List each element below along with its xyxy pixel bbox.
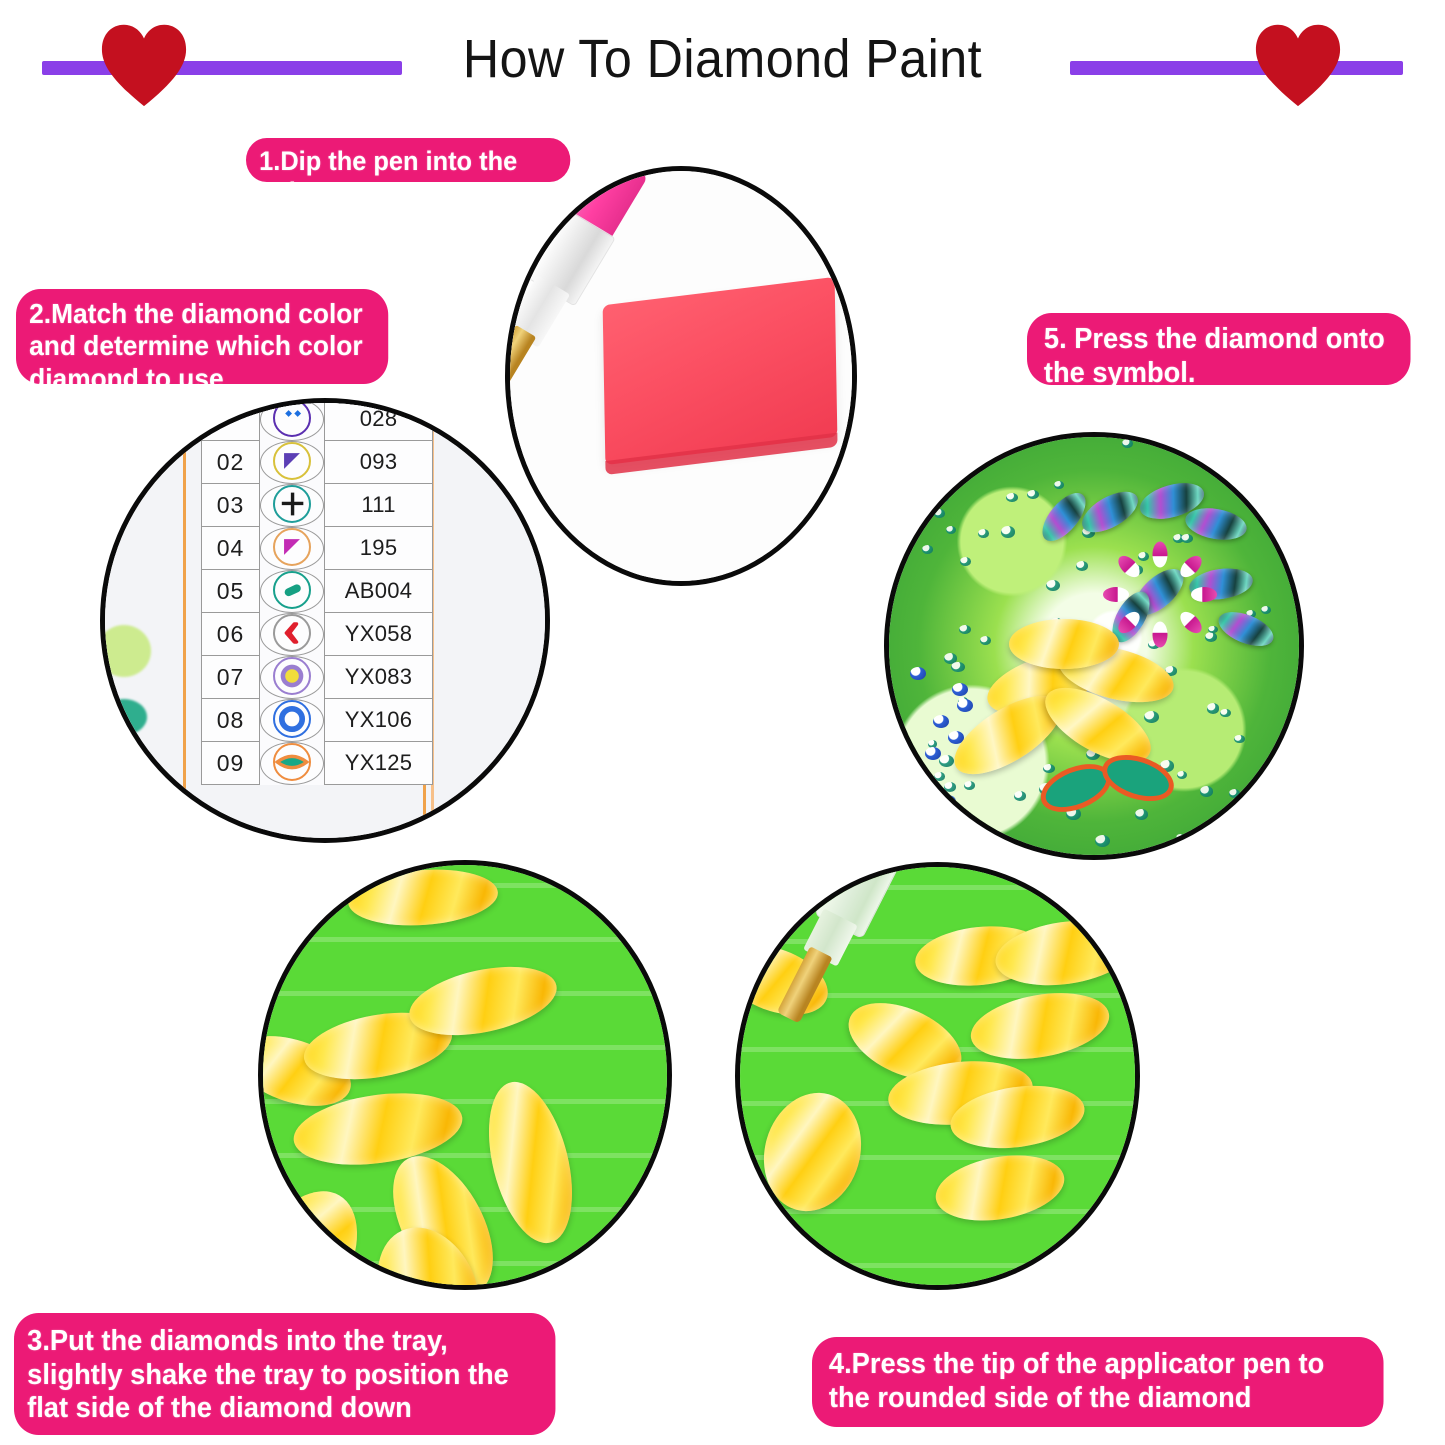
tray-ridge [263,937,667,942]
symbol-plus-icon [273,485,311,523]
symbol-double-diamond-icon [273,403,311,437]
drill-dot [946,465,957,474]
drill-dot [1205,632,1218,642]
header: How To Diamond Paint [0,0,1445,120]
chart-symbol-cell [260,527,324,570]
table-row: 05AB004 [202,570,433,613]
tray-ridge [740,1263,1135,1268]
pen-dipping-into-gel-photo [505,166,857,586]
drill-dot [1207,703,1220,713]
drill-dot [922,545,933,554]
chart-code-cell: AB004 [325,570,433,613]
color-chart-table: 02802093031110419505AB00406YX05807YX0830… [201,403,433,785]
drill-dot [1135,809,1148,820]
table-row: 07YX083 [202,656,433,699]
symbol-dot-ring-icon [273,657,311,695]
drill-dot [1220,709,1231,718]
drill-dot [939,755,954,767]
infographic-canvas: How To Diamond Paint 1.Dip the pen into … [0,0,1445,1445]
drill-dot [973,456,983,464]
drill-dot [1014,791,1027,801]
step-3-label: 3.Put the diamonds into the tray, slight… [14,1313,555,1435]
diamond-gem [1009,619,1119,669]
drill-dot [1181,534,1193,544]
chart-code-cell: YX058 [325,613,433,656]
drill-dot [1222,810,1234,819]
yellow-diamonds-in-green-tray-photo [258,860,672,1290]
chart-symbol-cell [260,613,324,656]
chart-symbol-cell [260,570,324,613]
chart-code-cell: YX083 [325,656,433,699]
drill-dot [1054,481,1064,489]
chart-code-cell: YX106 [325,699,433,742]
chart-number-cell: 08 [202,699,260,742]
table-row: 02093 [202,441,433,484]
drill-dot [951,662,964,673]
chart-number-cell: 04 [202,527,260,570]
step-2-label: 2.Match the diamond color and determine … [16,289,388,384]
chart-symbol-cell [260,742,324,785]
chart-symbol-cell [260,441,324,484]
drill-dot [978,529,989,538]
table-row: 04195 [202,527,433,570]
table-row: 06YX058 [202,613,433,656]
tray-ridge [740,885,1135,890]
gel-pad [603,277,838,465]
drill-dot [1144,711,1159,723]
drill-dot [921,779,937,792]
chart-number-cell: 03 [202,484,260,527]
diamond-gem [263,1172,380,1285]
chart-code-cell: 195 [325,527,433,570]
table-row: 08YX106 [202,699,433,742]
table-row: 028 [202,403,433,441]
chart-symbol-cell [260,484,324,527]
diamond-gem [346,865,499,930]
chart-number-cell: 09 [202,742,260,785]
chart-symbol-cell [260,656,324,699]
drill-dot [1138,552,1149,561]
drill-dot [1200,786,1213,796]
chart-number-cell: 07 [202,656,260,699]
pressing-diamond-onto-canvas-photo [884,432,1304,860]
pen-picking-up-diamond-photo [735,862,1140,1290]
drill-dot [1188,453,1197,461]
chart-symbol-cell [260,403,324,441]
drill-dot [1176,834,1185,841]
petal-gem [1103,587,1129,602]
table-row: 03111 [202,484,433,527]
chart-symbol-cell [260,699,324,742]
chart-number-cell [202,403,260,441]
drill-dot [933,715,949,728]
symbol-leaf-icon [273,743,311,781]
color-symbol-chart-photo: 02802093031110419505AB00406YX05807YX0830… [100,398,550,843]
drill-dot [959,625,971,634]
page-title: How To Diamond Paint [51,28,1395,90]
chart-number-cell: 06 [202,613,260,656]
drill-dot [934,509,945,517]
petal-gem [1153,542,1168,568]
symbol-chevron-left-icon [273,614,311,652]
drill-dot [1076,561,1088,571]
step-5-label: 5. Press the diamond onto the symbol. [1027,313,1411,385]
symbol-triangle-fill-icon [273,528,311,566]
drill-dot [920,510,932,520]
symbol-capsule-icon [273,571,311,609]
petal-gem [1191,587,1217,602]
drill-dot [1027,490,1039,499]
chart-code-cell: YX125 [325,742,433,785]
chart-code-cell: 028 [325,403,433,441]
drill-dot [1001,526,1015,537]
petal-gem [1153,622,1168,648]
drill-dot [940,795,956,808]
diamond-gem [991,913,1135,994]
drill-dot [934,772,945,781]
drill-dot [1208,626,1217,633]
drill-dot [1224,830,1238,841]
drill-dot [944,782,957,792]
chart-number-cell: 05 [202,570,260,613]
chart-number-cell: 02 [202,441,260,484]
symbol-ring-icon [273,700,311,738]
symbol-triangle-fill-icon [273,442,311,480]
step-4-label: 4.Press the tip of the applicator pen to… [812,1337,1384,1427]
chart-code-cell: 111 [325,484,433,527]
chart-code-cell: 093 [325,441,433,484]
drill-dot [957,699,973,712]
table-row: 09YX125 [202,742,433,785]
